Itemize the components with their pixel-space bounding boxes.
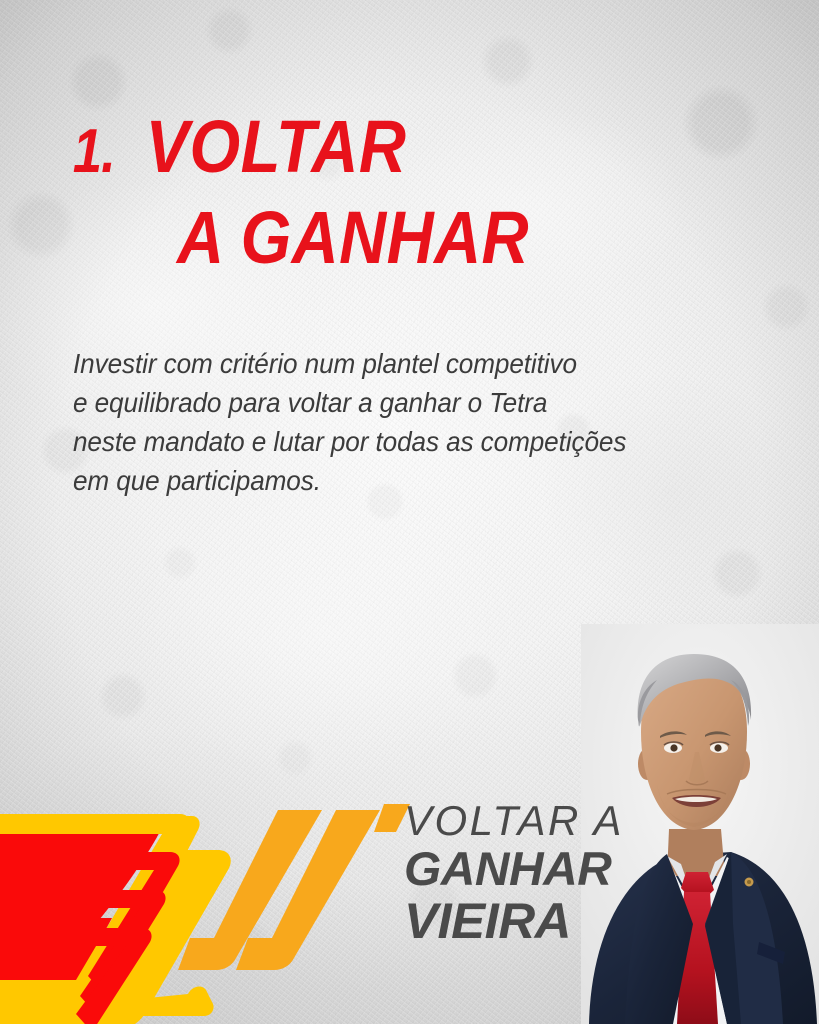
- body-line-4: em que participamos.: [73, 461, 719, 500]
- logo-mark-illustration: [0, 798, 412, 1024]
- headline-number: 1.: [73, 109, 115, 195]
- logo-wordmark: VOLTAR A GANHAR VIEIRA: [404, 800, 624, 946]
- logo-line-voltar-a: VOLTAR A: [404, 800, 624, 842]
- body-line-1: Investir com critério num plantel compet…: [73, 344, 719, 383]
- body-copy: Investir com critério num plantel compet…: [73, 344, 719, 500]
- logo-line-vieira: VIEIRA: [404, 896, 628, 946]
- body-line-2: e equilibrado para voltar a ganhar o Tet…: [73, 383, 719, 422]
- campaign-poster: 1. VOLTAR A GANHAR Investir com critério…: [0, 0, 819, 1024]
- eagle-wing-chevron-mark: [0, 798, 412, 1024]
- headline-text-voltar: VOLTAR: [146, 104, 407, 190]
- body-line-3: neste mandato e lutar por todas as compe…: [73, 422, 719, 461]
- logo-line-ganhar: GANHAR: [404, 845, 628, 892]
- headline-block: 1. VOLTAR A GANHAR: [72, 104, 732, 281]
- headline-line-1: 1. VOLTAR: [72, 104, 653, 195]
- headline-line-2: A GANHAR: [177, 195, 665, 281]
